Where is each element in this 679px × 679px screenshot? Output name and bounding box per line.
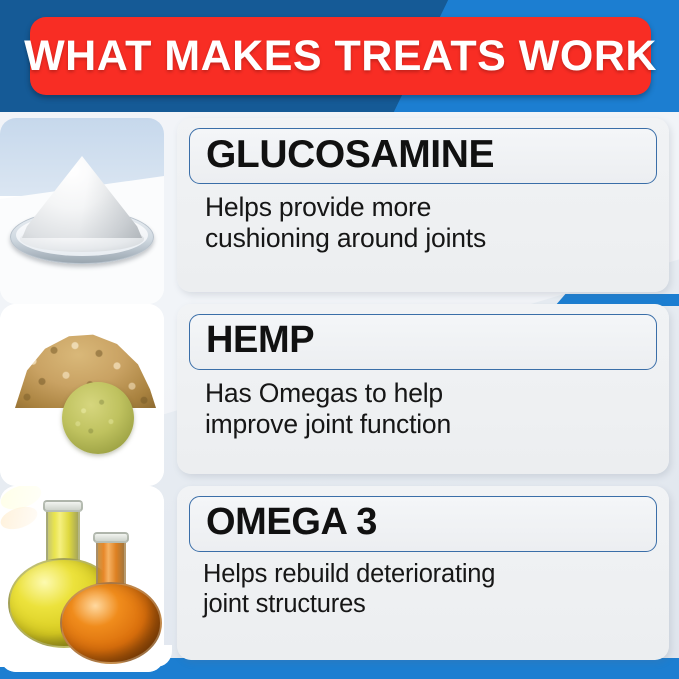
ingredient-list: GLUCOSAMINE Helps provide more cushionin… bbox=[0, 112, 679, 679]
header-banner-area: WHAT MAKES TREATS WORK bbox=[0, 0, 679, 112]
ingredient-content-card: HEMP Has Omegas to help improve joint fu… bbox=[177, 304, 669, 474]
ingredient-description-line: improve joint function bbox=[205, 409, 657, 440]
ingredient-title-box: OMEGA 3 bbox=[189, 496, 657, 552]
orange-flask-body bbox=[60, 582, 162, 664]
omega-oil-flasks-icon bbox=[0, 486, 164, 672]
ingredient-name: GLUCOSAMINE bbox=[206, 134, 494, 176]
ingredient-name: OMEGA 3 bbox=[206, 502, 377, 543]
flask-illustration bbox=[0, 486, 164, 672]
ingredient-description: Helps rebuild deteriorating joint struct… bbox=[189, 560, 657, 619]
hemp-illustration bbox=[0, 304, 164, 486]
ingredient-description-line: cushioning around joints bbox=[205, 223, 657, 254]
ingredient-image-card bbox=[0, 118, 164, 304]
ingredient-content-card: OMEGA 3 Helps rebuild deteriorating join… bbox=[177, 486, 669, 660]
ingredient-description-line: Helps provide more bbox=[205, 192, 657, 223]
ingredient-description-line: Helps rebuild deteriorating bbox=[203, 560, 657, 590]
ingredient-description: Helps provide more cushioning around joi… bbox=[189, 192, 657, 253]
ingredient-row: HEMP Has Omegas to help improve joint fu… bbox=[0, 304, 679, 486]
hemp-green-powder-texture bbox=[62, 382, 134, 454]
hemp-seeds-icon bbox=[0, 304, 164, 486]
ingredient-description-line: joint structures bbox=[203, 590, 657, 620]
page-title: WHAT MAKES TREATS WORK bbox=[24, 35, 657, 78]
ingredient-row: GLUCOSAMINE Helps provide more cushionin… bbox=[0, 118, 679, 304]
ingredient-image-card bbox=[0, 304, 164, 486]
orange-flask-lip bbox=[93, 532, 129, 543]
header-red-banner: WHAT MAKES TREATS WORK bbox=[30, 17, 651, 95]
ingredient-row: OMEGA 3 Helps rebuild deteriorating join… bbox=[0, 486, 679, 672]
glucosamine-powder-icon bbox=[0, 118, 164, 304]
ingredient-name: HEMP bbox=[206, 320, 314, 361]
yellow-flask-lip bbox=[43, 500, 83, 512]
ingredient-description: Has Omegas to help improve joint functio… bbox=[189, 378, 657, 439]
ingredient-title-box: GLUCOSAMINE bbox=[189, 128, 657, 184]
ingredient-description-line: Has Omegas to help bbox=[205, 378, 657, 409]
ingredient-title-box: HEMP bbox=[189, 314, 657, 370]
infographic-root: WHAT MAKES TREATS WORK bbox=[0, 0, 679, 679]
ingredient-image-card bbox=[0, 486, 164, 672]
powder-illustration bbox=[0, 118, 164, 304]
ingredient-content-card: GLUCOSAMINE Helps provide more cushionin… bbox=[177, 118, 669, 292]
